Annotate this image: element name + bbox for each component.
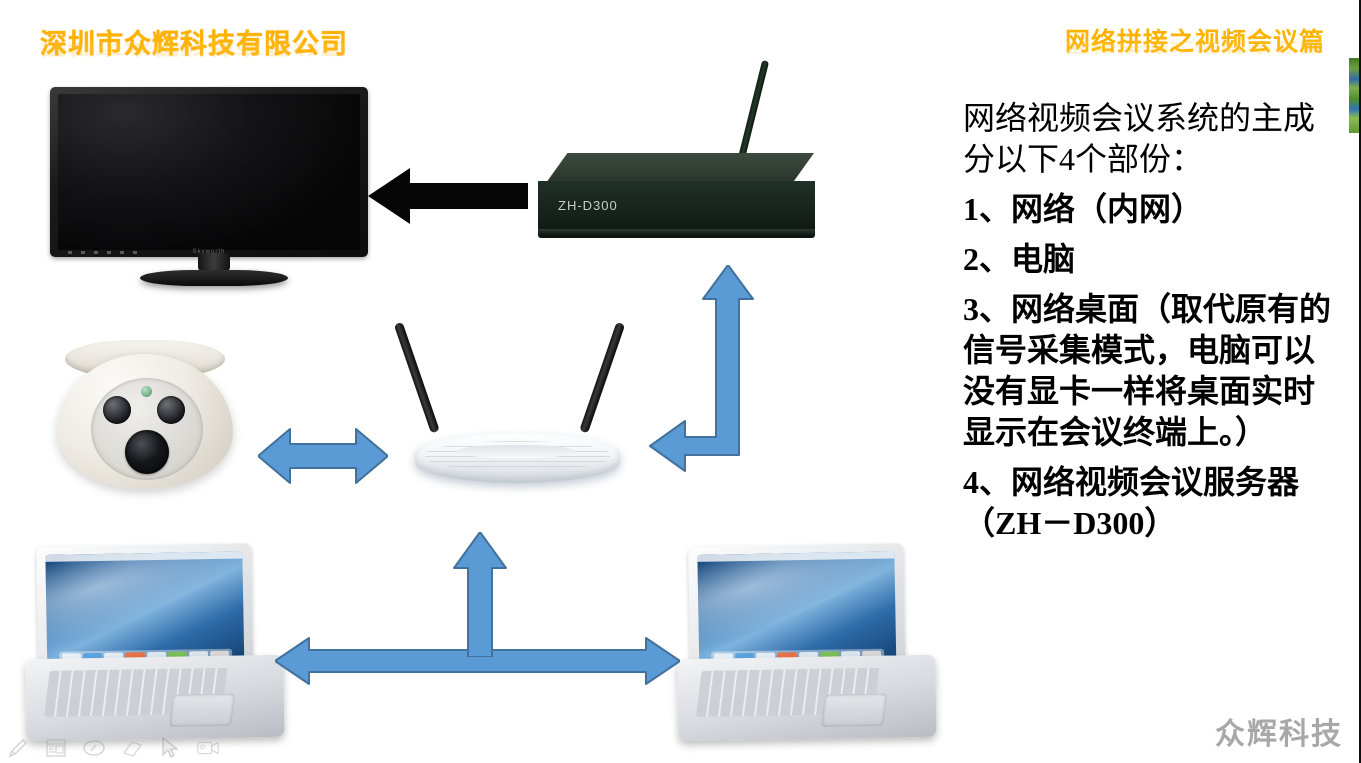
arrow-camera-to-router	[258, 425, 388, 487]
slide-menu-icon[interactable]	[44, 737, 68, 759]
list-item-4: 4、网络视频会议服务器（ZH－D300）	[963, 462, 1341, 544]
tv-indicator-leds	[68, 251, 138, 254]
router-top-gloss	[457, 445, 575, 458]
laptop-menubar	[45, 551, 242, 561]
router	[395, 305, 640, 505]
camera-light-sensor-icon	[141, 386, 152, 397]
eraser-icon[interactable]	[120, 737, 144, 759]
server-model-label: ZH-D300	[558, 198, 618, 213]
router-antenna-right-icon	[579, 322, 625, 434]
tv-stand-base	[140, 270, 288, 286]
laptop-left	[18, 543, 292, 753]
intro-paragraph: 网络视频会议系统的主成分以下4个部份：	[963, 98, 1341, 180]
server: ZH-D300	[510, 55, 860, 255]
company-title: 深圳市众辉科技有限公司	[40, 22, 348, 61]
laser-pointer-icon[interactable]	[82, 737, 106, 759]
camera-lens-icon	[125, 430, 169, 474]
list-item-1: 1、网络（内网）	[963, 189, 1341, 230]
camera-ir-led-left-icon	[103, 396, 131, 424]
arrow-router-to-server	[640, 265, 755, 480]
laptop-right	[670, 543, 944, 753]
watermark: 众辉科技	[1215, 709, 1343, 753]
list-item-3: 3、网络桌面（取代原有的信号采集模式，电脑可以没有显卡一样将桌面实时显示在会议终…	[963, 289, 1341, 453]
tv-screen	[58, 94, 360, 250]
cursor-icon[interactable]	[158, 737, 182, 759]
presentation-icon[interactable]	[196, 737, 220, 759]
server-front-edge	[538, 229, 815, 235]
laptop-screen	[45, 551, 244, 666]
laptop-menubar	[697, 551, 894, 561]
tv-frame: Skyworth	[50, 87, 368, 257]
slide-canvas: 深圳市众辉科技有限公司 网络拼接之视频会议篇 Skyworth ZH-D300	[0, 0, 1361, 763]
camera-ir-led-right-icon	[157, 396, 185, 424]
presenter-toolbar[interactable]	[6, 737, 220, 759]
pen-icon[interactable]	[6, 737, 30, 759]
list-item-2: 2、电脑	[963, 239, 1341, 280]
slide-topic-title: 网络拼接之视频会议篇	[1065, 22, 1325, 58]
arrow-laptops-to-router	[450, 532, 510, 657]
laptop-screen	[697, 551, 896, 666]
router-antenna-left-icon	[394, 322, 440, 434]
ip-camera	[55, 338, 245, 508]
laptop-trackpad	[169, 694, 235, 727]
laptop-trackpad	[821, 694, 887, 727]
server-top-panel	[546, 153, 814, 183]
content-text-column: 网络视频会议系统的主成分以下4个部份： 1、网络（内网） 2、电脑 3、网络桌面…	[963, 98, 1341, 553]
arrow-server-to-tv	[368, 165, 528, 227]
